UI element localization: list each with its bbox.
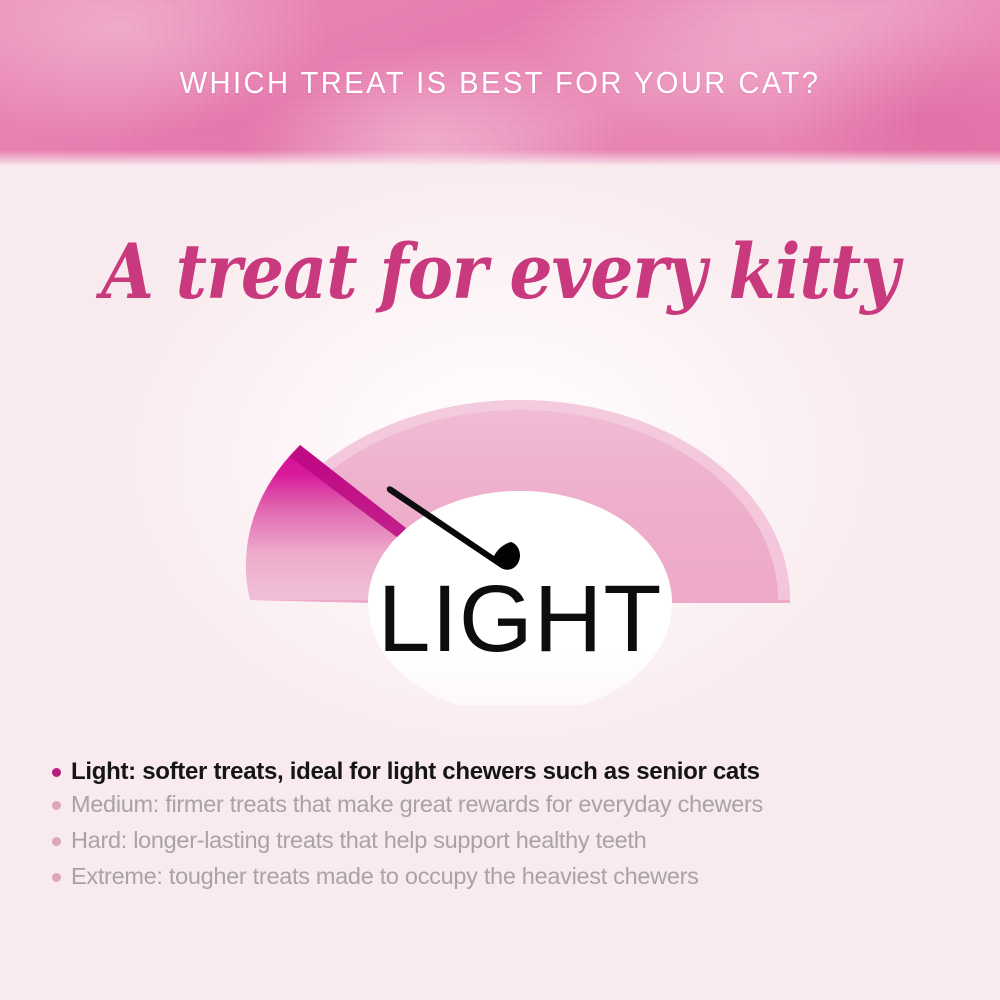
- legend-item-hard-label: Hard: longer-lasting treats that help su…: [71, 827, 646, 854]
- header-title: WHICH TREAT IS BEST FOR YOUR CAT?: [30, 0, 970, 166]
- gauge-selected-label: LIGHT: [220, 572, 820, 667]
- bullet-icon-extreme: [52, 873, 61, 882]
- bullet-icon-hard: [52, 837, 61, 846]
- bullet-icon-medium: [52, 801, 61, 810]
- legend-item-extreme-label: Extreme: tougher treats made to occupy t…: [71, 863, 699, 890]
- treat-level-legend: Light: softer treats, ideal for light ch…: [52, 758, 962, 899]
- legend-item-light-label: Light: softer treats, ideal for light ch…: [71, 758, 760, 786]
- legend-item-extreme[interactable]: Extreme: tougher treats made to occupy t…: [52, 863, 962, 890]
- page-title: A treat for every kitty: [0, 227, 1000, 317]
- legend-item-hard[interactable]: Hard: longer-lasting treats that help su…: [52, 827, 962, 854]
- infographic-page: WHICH TREAT IS BEST FOR YOUR CAT? A trea…: [0, 0, 1000, 1000]
- legend-item-light[interactable]: Light: softer treats, ideal for light ch…: [52, 758, 962, 786]
- legend-item-medium-label: Medium: firmer treats that make great re…: [71, 791, 763, 818]
- bullet-icon-light: [52, 768, 61, 777]
- legend-item-medium[interactable]: Medium: firmer treats that make great re…: [52, 791, 962, 818]
